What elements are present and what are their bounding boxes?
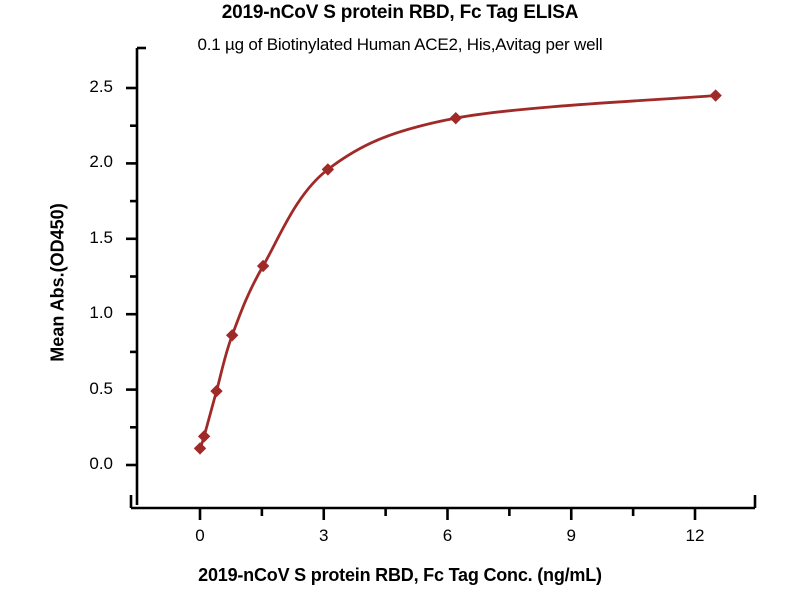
- axis-layer: [126, 48, 755, 520]
- data-point-marker: [198, 430, 210, 442]
- x-tick-label: 3: [304, 526, 344, 546]
- data-point-marker: [257, 260, 269, 272]
- y-tick-label: 2.5: [65, 77, 113, 97]
- data-series-layer: [194, 89, 722, 454]
- x-tick-label: 6: [428, 526, 468, 546]
- data-point-marker: [226, 329, 238, 341]
- y-tick-label: 2.0: [65, 152, 113, 172]
- data-point-marker: [194, 442, 206, 454]
- data-point-marker: [450, 112, 462, 124]
- x-tick-label: 12: [675, 526, 715, 546]
- x-tick-label: 0: [180, 526, 220, 546]
- chart-container: 2019-nCoV S protein RBD, Fc Tag ELISA 0.…: [0, 0, 800, 600]
- y-tick-label: 1.5: [65, 228, 113, 248]
- x-tick-label: 9: [551, 526, 591, 546]
- data-point-marker: [709, 89, 721, 101]
- fitted-curve: [200, 96, 716, 449]
- y-tick-label: 0.5: [65, 379, 113, 399]
- y-tick-label: 1.0: [65, 303, 113, 323]
- plot-area: [0, 0, 800, 600]
- data-point-marker: [210, 385, 222, 397]
- y-tick-label: 0.0: [65, 454, 113, 474]
